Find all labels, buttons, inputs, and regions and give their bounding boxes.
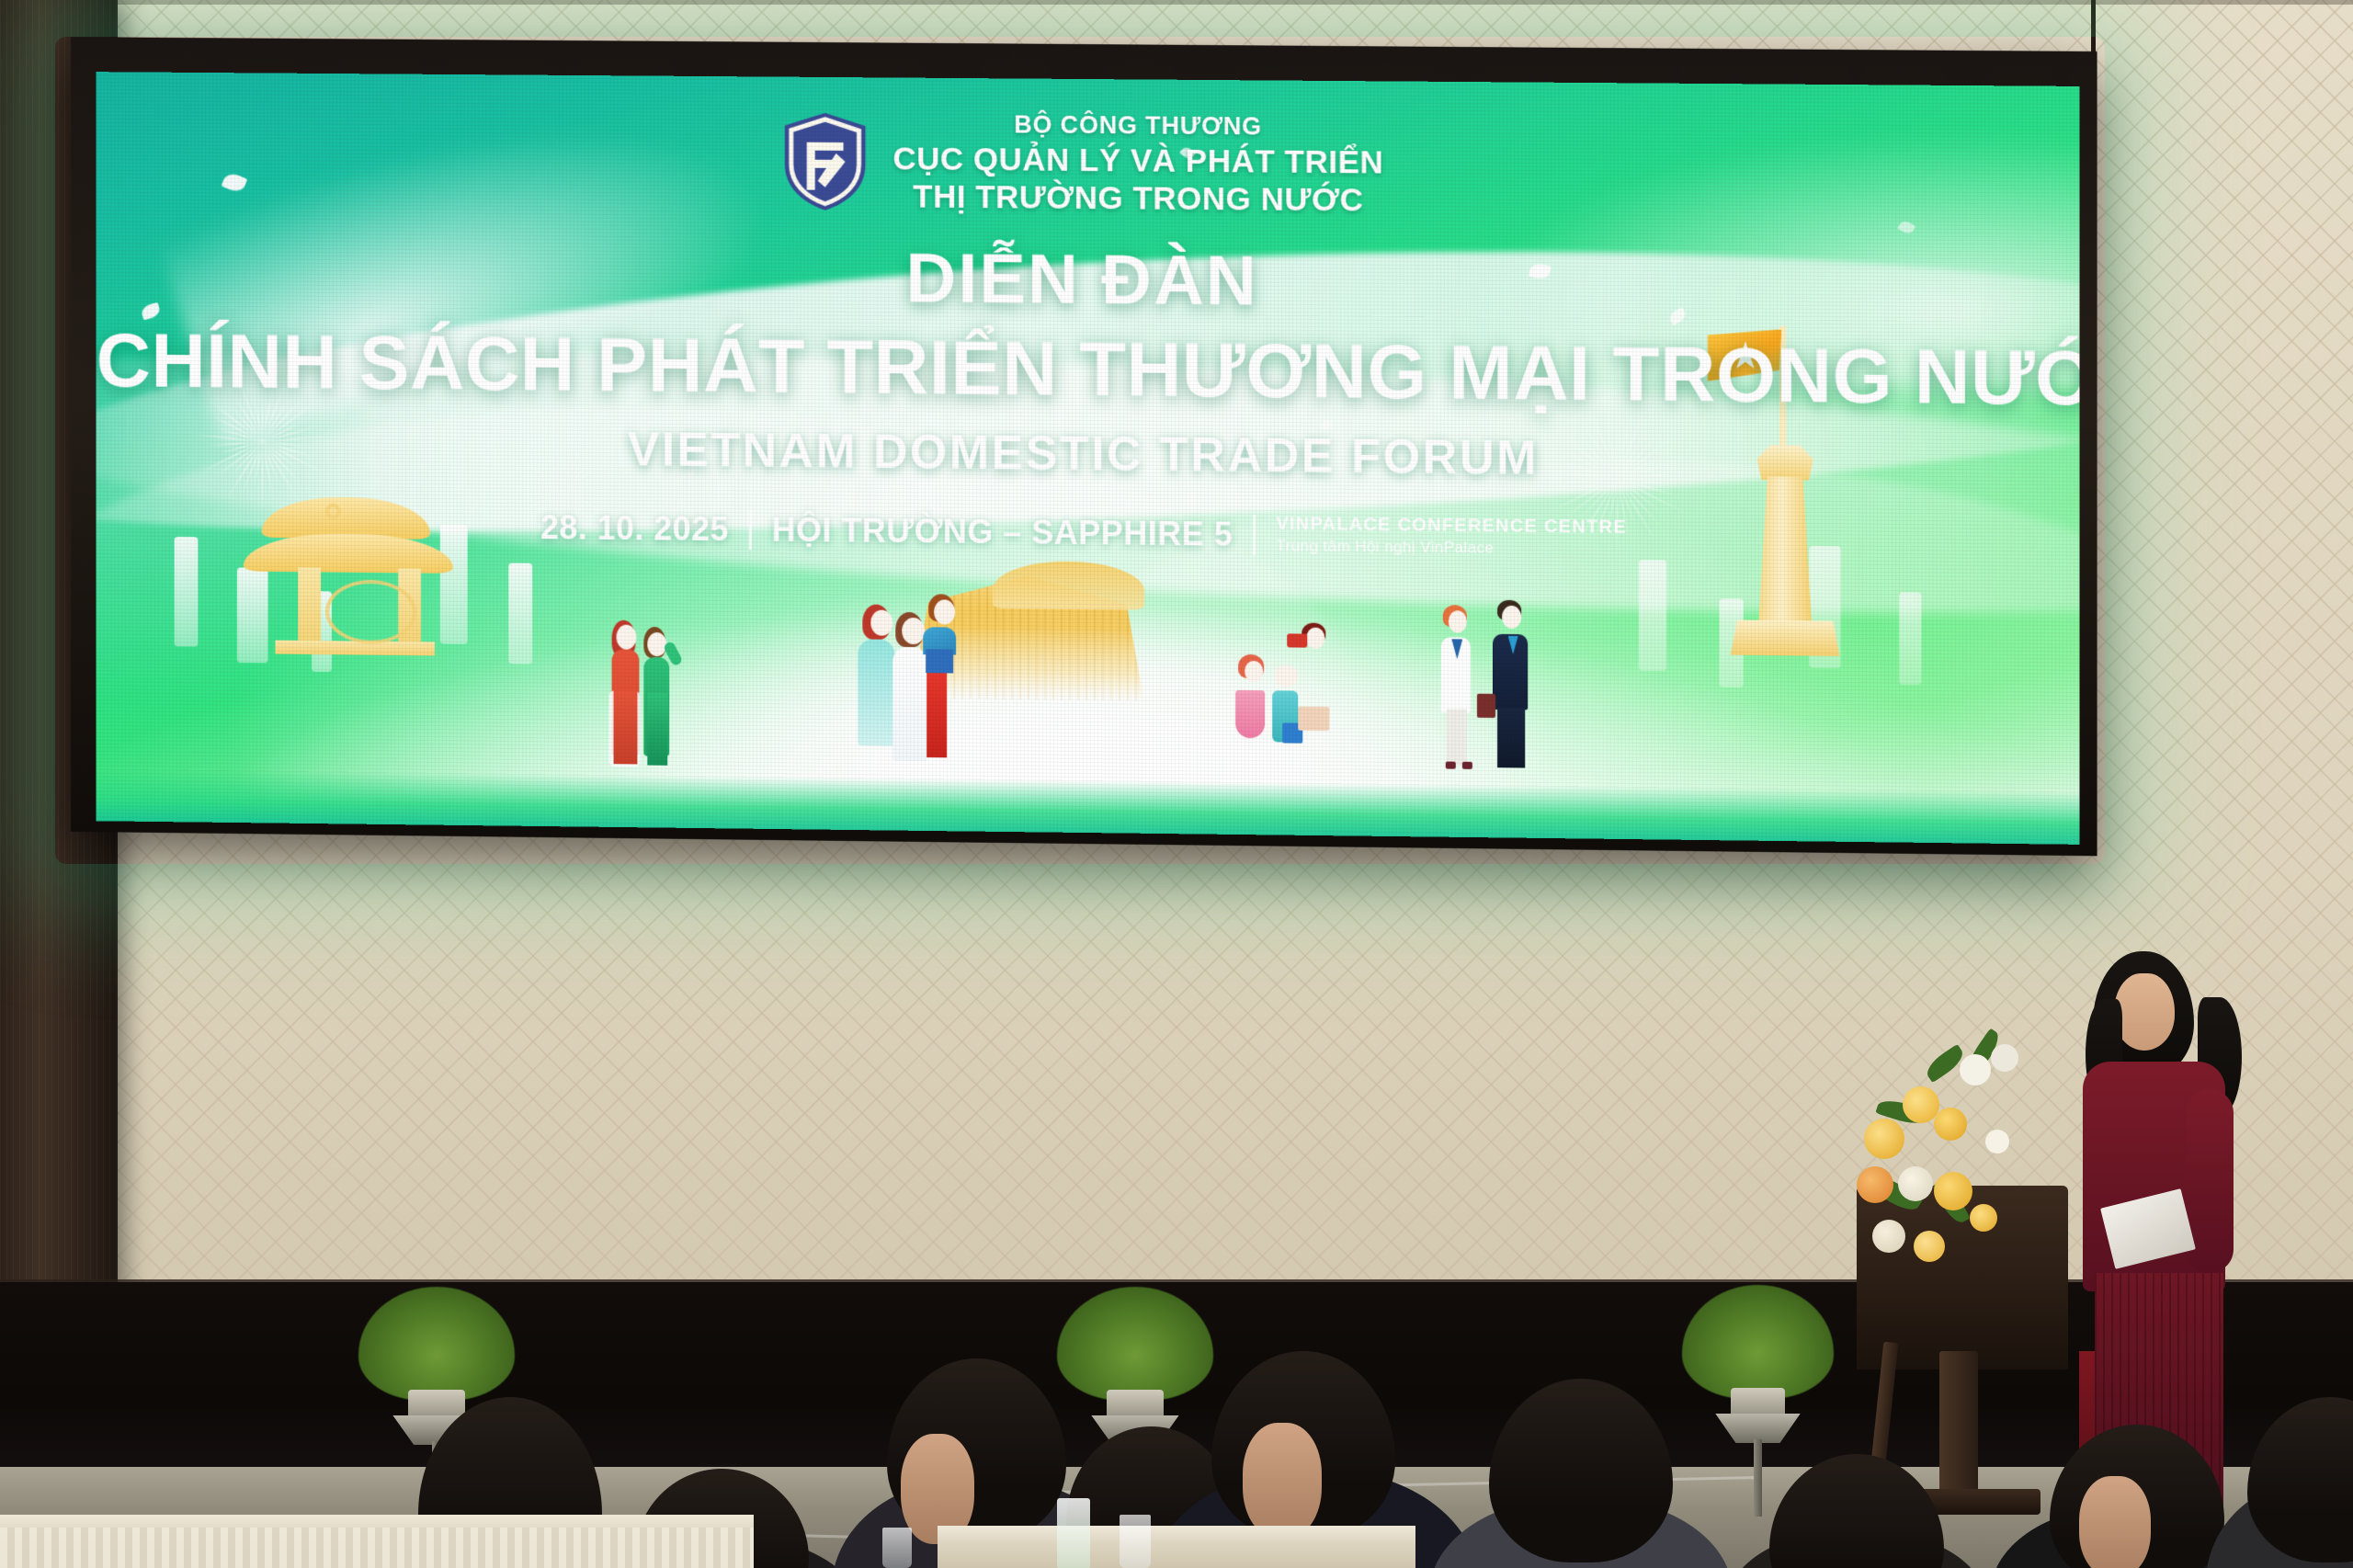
wall-seam	[118, 0, 2353, 5]
event-date: 28. 10. 2025	[540, 508, 729, 549]
water-bottle	[1057, 1498, 1090, 1568]
led-screen: ★	[97, 72, 2080, 845]
ministry-text: BỘ CÔNG THƯƠNG CỤC QUẢN LÝ VÀ PHÁT TRIỂN…	[892, 110, 1383, 217]
ao-dai-women	[597, 617, 698, 783]
title-main: CHÍNH SÁCH PHÁT TRIỂN THƯƠNG MẠI TRONG N…	[97, 317, 2080, 424]
ministry-line2: CỤC QUẢN LÝ VÀ PHÁT TRIỂN	[892, 142, 1383, 179]
businessman-pair	[1439, 587, 1560, 778]
hanging-rod	[2091, 0, 2096, 55]
event-hall: HỘI TRƯỜNG – SAPPHIRE 5	[772, 510, 1233, 553]
shoppers-group	[1231, 616, 1359, 778]
conference-photo: ★	[0, 0, 2353, 1568]
meta-divider	[749, 509, 752, 550]
venue-name-en: VINPALACE CONFERENCE CENTRE	[1276, 513, 1626, 539]
moit-shield-logo	[781, 110, 870, 212]
briefcase-icon	[1477, 694, 1495, 718]
camera-icon	[1288, 634, 1308, 648]
petal	[1897, 219, 1915, 236]
venue-name-vi: Trung tâm Hội nghị VinPalace	[1276, 538, 1626, 561]
drinking-glass	[882, 1528, 912, 1568]
petal	[222, 170, 248, 194]
logo-and-ministry: BỘ CÔNG THƯƠNG CỤC QUẢN LÝ VÀ PHÁT TRIỂN…	[781, 110, 1383, 218]
stage-plant-right	[1682, 1285, 1834, 1469]
ministry-line3: THỊ TRƯỜNG TRONG NƯỚC	[892, 179, 1383, 217]
family-group	[854, 589, 992, 774]
meta-divider	[1253, 514, 1256, 554]
table-skirt	[0, 1528, 754, 1568]
drinking-glass	[1120, 1515, 1151, 1568]
title-kicker: DIỄN ĐÀN	[97, 232, 2080, 328]
event-venue: VINPALACE CONFERENCE CENTRE Trung tâm Hộ…	[1276, 513, 1626, 560]
ministry-line1: BỘ CÔNG THƯƠNG	[892, 110, 1383, 141]
head-table	[938, 1526, 1415, 1568]
